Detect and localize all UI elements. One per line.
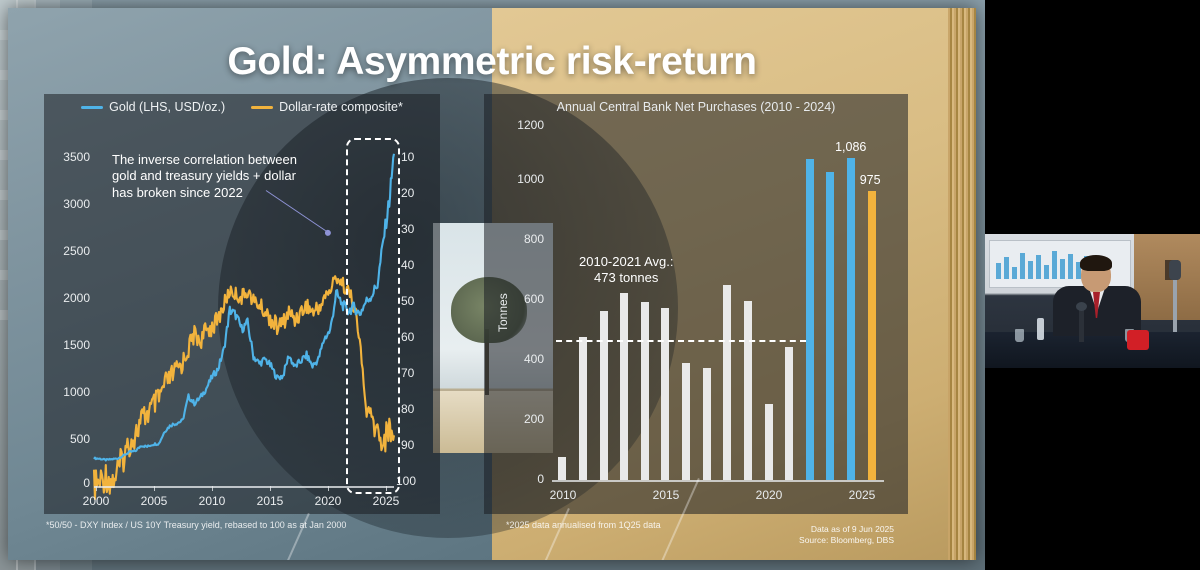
y-right-tick-60: 60: [401, 330, 414, 344]
x-tick-2025: 2025: [366, 494, 406, 508]
participant-video-tile[interactable]: [985, 234, 1200, 368]
bar-2014: [641, 302, 649, 480]
central-bank-purchases-chart-panel: Annual Central Bank Net Purchases (2010 …: [484, 94, 908, 514]
y-left-tick-1500: 1500: [46, 338, 90, 352]
y-tick-1000: 1000: [500, 172, 544, 186]
screen-share-region: Gold: Asymmetric risk-return Gold (LHS, …: [0, 0, 985, 570]
x-tick-2020: 2020: [746, 488, 792, 502]
x-tick-2010: 2010: [540, 488, 586, 502]
y-tick-1200: 1200: [500, 118, 544, 132]
x-tick: [154, 486, 155, 491]
y-right-tick-30: 30: [401, 222, 414, 236]
y-left-tick-3500: 3500: [46, 150, 90, 164]
presentation-slide: Gold: Asymmetric risk-return Gold (LHS, …: [8, 8, 976, 560]
x-tick-2025: 2025: [839, 488, 885, 502]
y-right-tick-20: 20: [401, 186, 414, 200]
y-tick-800: 800: [500, 232, 544, 246]
bar-2013: [620, 293, 628, 480]
water-glass: [1015, 329, 1024, 342]
background-chart-bars: [996, 249, 1089, 279]
bar-2025: [868, 191, 876, 480]
left-chart-legend: Gold (LHS, USD/oz.) Dollar-rate composit…: [44, 100, 440, 114]
slide-title: Gold: Asymmetric risk-return: [8, 40, 976, 84]
x-tick-2020: 2020: [308, 494, 348, 508]
x-tick: [328, 486, 329, 491]
x-tick: [96, 486, 97, 491]
gold-vs-dollar-chart-panel: Gold (LHS, USD/oz.) Dollar-rate composit…: [44, 94, 440, 514]
bar-2012: [600, 311, 608, 480]
y-right-tick-70: 70: [401, 366, 414, 380]
y-tick-400: 400: [500, 352, 544, 366]
y-right-tick-10: 10: [401, 150, 414, 164]
x-tick: [270, 486, 271, 491]
y-left-tick-500: 500: [46, 432, 90, 446]
y-left-tick-2000: 2000: [46, 291, 90, 305]
bar-plot-area: [552, 124, 882, 480]
bar-label-2025: 975: [860, 173, 881, 187]
participant-hair: [1080, 255, 1112, 271]
bar-label-2024: 1,086: [835, 140, 866, 154]
y-tick-200: 200: [500, 412, 544, 426]
video-panel: [985, 0, 1200, 570]
right-chart-header: Annual Central Bank Net Purchases (2010 …: [484, 100, 908, 114]
y-right-tick-50: 50: [401, 294, 414, 308]
water-bottle: [1037, 318, 1044, 340]
bar-2010: [558, 457, 566, 480]
red-object: [1127, 330, 1149, 350]
average-reference-line: [556, 340, 806, 342]
bar-2018: [723, 285, 731, 480]
bar-2022: [806, 159, 814, 480]
x-axis-line: [94, 486, 394, 488]
bar-2020: [765, 404, 773, 480]
y-left-tick-1000: 1000: [46, 385, 90, 399]
source-note: Data as of 9 Jun 2025 Source: Bloomberg,…: [799, 524, 894, 547]
y-right-tick-40: 40: [401, 258, 414, 272]
x-tick-2000: 2000: [76, 494, 116, 508]
table-microphone: [1079, 308, 1084, 342]
right-chart-footnote: *2025 data annualised from 1Q25 data: [506, 520, 661, 530]
microphone-stand: [1173, 276, 1177, 338]
screen-capture: Gold: Asymmetric risk-return Gold (LHS, …: [0, 0, 1200, 570]
y-tick-600: 600: [500, 292, 544, 306]
legend-item-gold: Gold (LHS, USD/oz.): [81, 100, 225, 114]
x-tick-2010: 2010: [192, 494, 232, 508]
bar-2024: [847, 158, 855, 480]
x-tick-2015: 2015: [250, 494, 290, 508]
bar-2021: [785, 347, 793, 481]
y-left-tick-2500: 2500: [46, 244, 90, 258]
legend-swatch-gold: [81, 106, 103, 109]
y-right-tick-80: 80: [401, 402, 414, 416]
y-left-tick-3000: 3000: [46, 197, 90, 211]
x-tick-2005: 2005: [134, 494, 174, 508]
bar-2016: [682, 363, 690, 480]
legend-swatch-dollar: [251, 106, 273, 109]
bar-2017: [703, 368, 711, 480]
source-date: Data as of 9 Jun 2025: [799, 524, 894, 535]
y-left-tick-0: 0: [46, 476, 90, 490]
legend-item-dollar: Dollar-rate composite*: [251, 100, 403, 114]
divergence-highlight-box: [346, 138, 400, 494]
bar-2015: [661, 308, 669, 480]
source-attribution: Source: Bloomberg, DBS: [799, 535, 894, 546]
x-axis-line: [552, 480, 884, 482]
x-tick: [212, 486, 213, 491]
x-tick-2015: 2015: [643, 488, 689, 502]
legend-label-dollar: Dollar-rate composite*: [279, 100, 403, 114]
x-tick: [386, 486, 387, 491]
bar-2023: [826, 172, 834, 480]
legend-label-gold: Gold (LHS, USD/oz.): [109, 100, 225, 114]
y-tick-0: 0: [500, 472, 544, 486]
bar-2019: [744, 301, 752, 480]
bar-2011: [579, 337, 587, 480]
wood-slat-decor: [948, 8, 976, 560]
y-right-tick-90: 90: [401, 438, 414, 452]
